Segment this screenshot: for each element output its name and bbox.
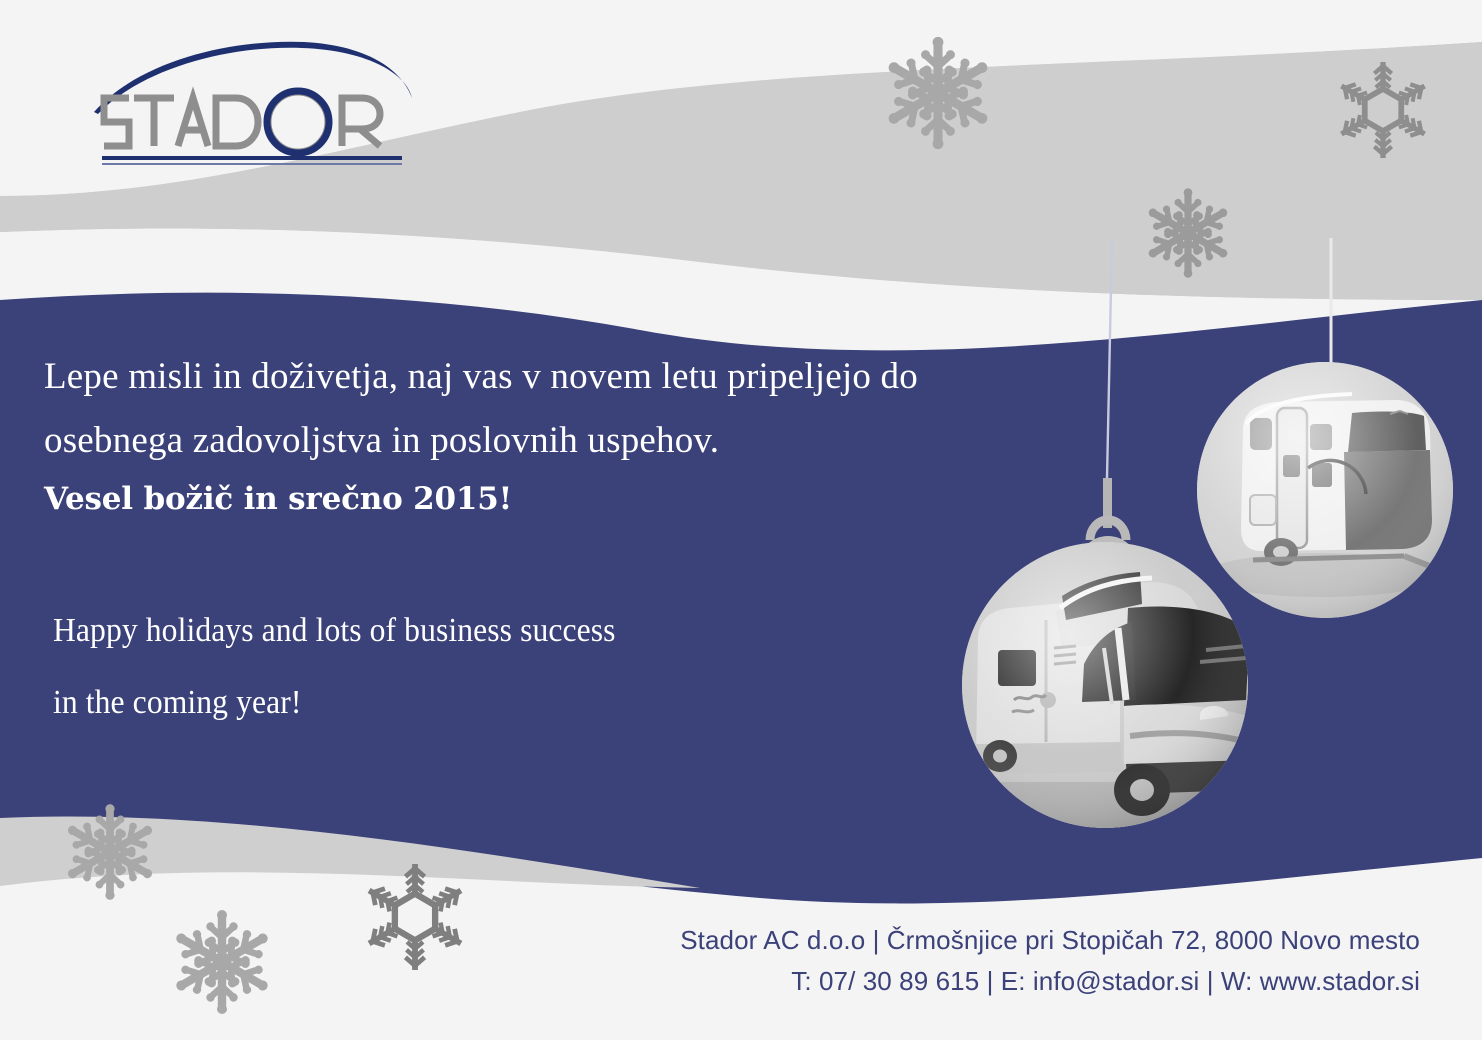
greeting-message-slovenian: Lepe misli in doživetja, naj vas v novem… <box>44 345 1044 525</box>
message-en-line-2: in the coming year! <box>53 667 983 739</box>
footer-address: Stador AC d.o.o | Črmošnjice pri Stopiča… <box>520 920 1420 961</box>
footer-contact: Stador AC d.o.o | Črmošnjice pri Stopiča… <box>520 920 1420 1002</box>
wheel-circle-icon <box>267 91 329 153</box>
message-en-line-1: Happy holidays and lots of business succ… <box>53 595 983 667</box>
footer-contact-details[interactable]: T: 07/ 30 89 615 | E: info@stador.si | W… <box>520 961 1420 1002</box>
greeting-card: Lepe misli in doživetja, naj vas v novem… <box>0 0 1482 1040</box>
message-sl-line-2: osebnega zadovoljstva in poslovnih uspeh… <box>44 409 1044 473</box>
logo-underline-thin-icon <box>102 163 402 165</box>
message-sl-line-1: Lepe misli in doživetja, naj vas v novem… <box>44 345 1044 409</box>
greeting-message-english: Happy holidays and lots of business succ… <box>53 595 1053 739</box>
stador-wordmark <box>104 92 380 152</box>
logo-underline-icon <box>102 156 402 160</box>
message-sl-greeting: Vesel božič in srečno 2015! <box>44 473 1044 525</box>
stador-logo[interactable] <box>88 36 418 181</box>
